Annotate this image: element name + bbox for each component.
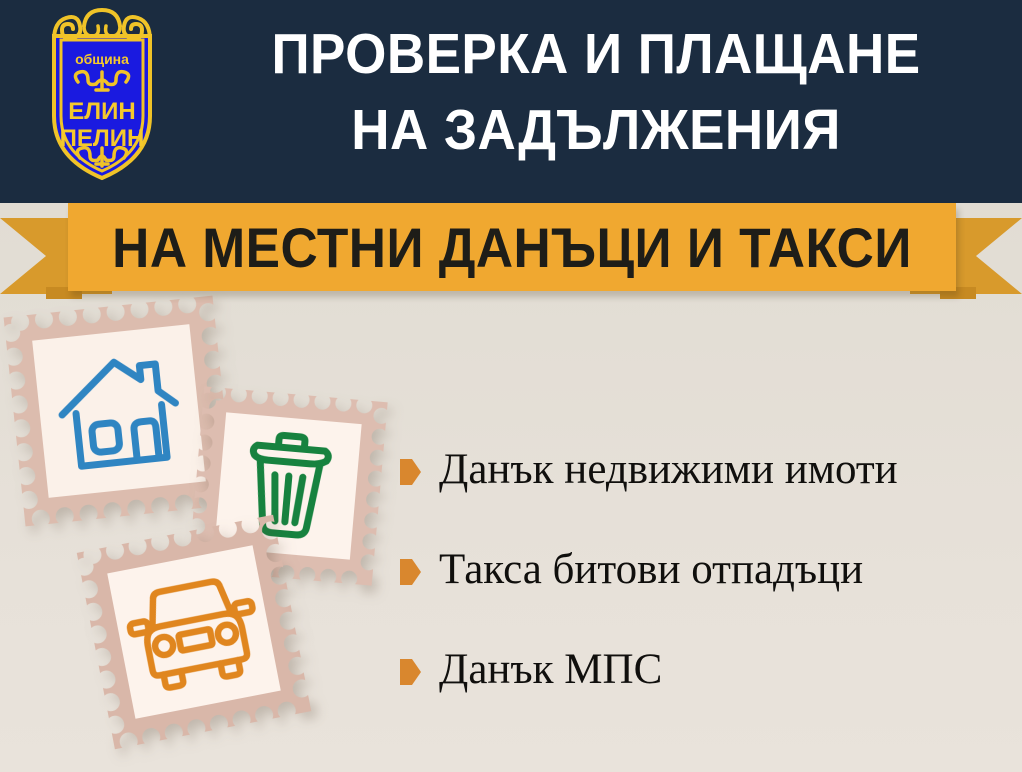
arrow-bullet-icon <box>400 659 421 685</box>
page-title-line-1: ПРОВЕРКА И ПЛАЩАНЕ <box>218 16 973 92</box>
poster-canvas: община ЕЛИН ПЕЛИН <box>0 0 1022 772</box>
tax-type-list: Данък недвижими имоти Такса битови отпад… <box>400 420 1010 720</box>
list-item-label: Данък МПС <box>439 646 662 693</box>
header-bar: община ЕЛИН ПЕЛИН <box>0 0 1022 203</box>
list-item-label: Такса битови отпадъци <box>439 546 863 593</box>
arrow-bullet-icon <box>400 459 421 485</box>
list-item[interactable]: Данък МПС <box>400 620 1010 720</box>
page-title-line-2: НА ЗАДЪЛЖЕНИЯ <box>218 92 973 168</box>
stamp-card-group <box>0 296 420 772</box>
stamp-card-vehicle <box>77 515 311 749</box>
logo-text-obshtina: община <box>75 51 129 67</box>
subtitle-ribbon: НА МЕСТНИ ДАНЪЦИ И ТАКСИ <box>0 203 1022 303</box>
ribbon-label: НА МЕСТНИ ДАНЪЦИ И ТАКСИ <box>104 203 921 291</box>
arrow-bullet-icon <box>400 559 421 585</box>
logo-text-elin: ЕЛИН <box>68 98 135 125</box>
page-title: ПРОВЕРКА И ПЛАЩАНЕ НА ЗАДЪЛЖЕНИЯ <box>218 16 973 168</box>
municipality-logo: община ЕЛИН ПЕЛИН <box>28 6 176 188</box>
list-item[interactable]: Данък недвижими имоти <box>400 420 1010 520</box>
ribbon-panel: НА МЕСТНИ ДАНЪЦИ И ТАКСИ <box>68 203 956 291</box>
list-item[interactable]: Такса битови отпадъци <box>400 520 1010 620</box>
list-item-label: Данък недвижими имоти <box>439 446 898 493</box>
